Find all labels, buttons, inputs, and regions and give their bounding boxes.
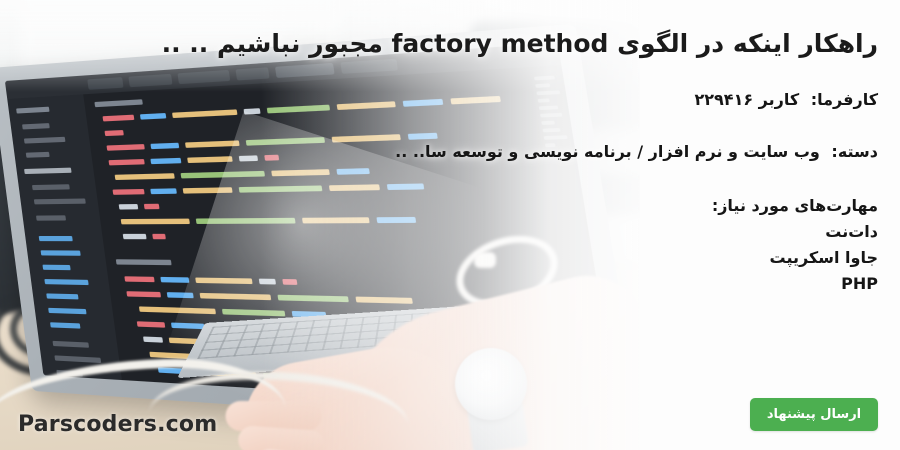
submit-proposal-button[interactable]: ارسال پیشنهاد: [750, 398, 878, 431]
category-value: وب سایت و نرم افزار / برنامه نویسی و توس…: [395, 142, 820, 161]
category-label: دسته:: [831, 142, 878, 161]
skills-label: مهارت‌های مورد نیاز:: [712, 193, 878, 219]
project-promo-card: راهکار اینکه در الگوی factory method مجب…: [0, 0, 900, 450]
skill-item: جاوا اسکریپت: [712, 245, 878, 271]
employer-label: کارفرما:: [811, 90, 878, 109]
category-row: دسته: وب سایت و نرم افزار / برنامه نویسی…: [395, 142, 878, 161]
skill-item: PHP: [712, 271, 878, 297]
brand-wordmark: Parscoders.com: [18, 412, 217, 437]
photo-wristwatch: [455, 348, 527, 420]
project-title: راهکار اینکه در الگوی factory method مجب…: [162, 28, 878, 59]
skills-block: مهارت‌های مورد نیاز: دات‌نت جاوا اسکریپت…: [712, 193, 878, 297]
employer-value: کاربر ۲۲۹۴۱۶: [695, 90, 800, 109]
employer-row: کارفرما: کاربر ۲۲۹۴۱۶: [695, 90, 879, 109]
skill-item: دات‌نت: [712, 219, 878, 245]
photo-earbud: [474, 252, 496, 268]
hero-photo: [0, 0, 640, 450]
